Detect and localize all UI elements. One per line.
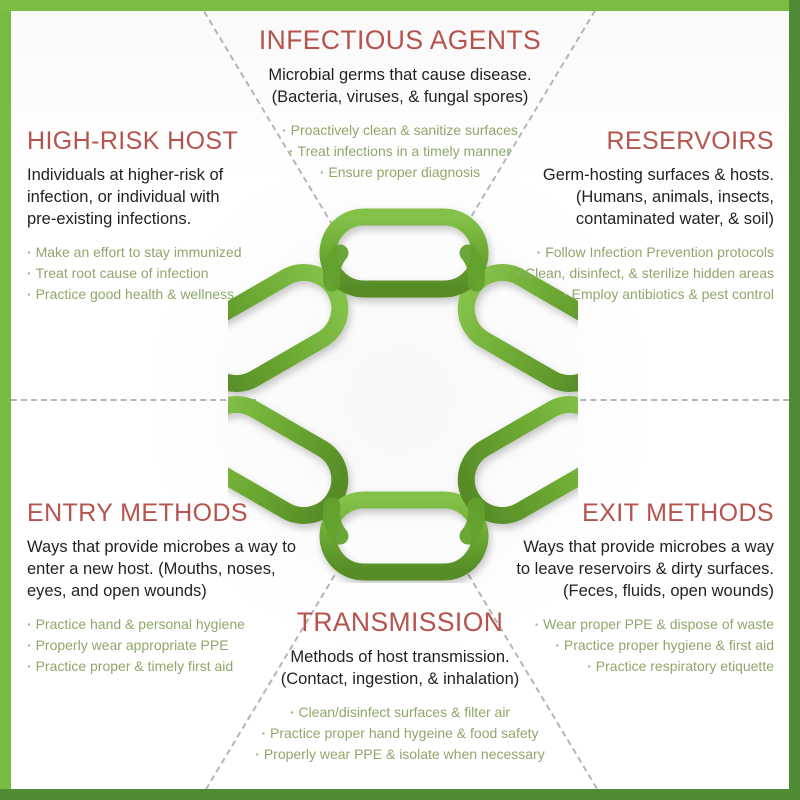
section-description-high-risk-host: Individuals at higher-risk of infection,… [27, 164, 289, 230]
list-item: Practice proper hand hygeine & food safe… [240, 723, 560, 744]
list-item: Follow Infection Prevention protocols [512, 242, 774, 263]
desc-line: (Bacteria, viruses, & fungal spores) [272, 88, 529, 106]
desc-line: (Humans, animals, insects, [576, 188, 774, 206]
section-title-reservoirs: RESERVOIRS [512, 128, 774, 155]
chain-link-bottom [328, 500, 480, 572]
desc-line: (Feces, fluids, open wounds) [563, 582, 774, 600]
section-title-infectious-agents: INFECTIOUS AGENTS [238, 26, 562, 55]
desc-line: to leave reservoirs & dirty surfaces. [516, 560, 774, 578]
desc-line: (Contact, ingestion, & inhalation) [281, 670, 519, 688]
section-title-transmission: TRANSMISSION [240, 608, 560, 637]
desc-line: Individuals at higher-risk of [27, 166, 223, 184]
desc-line: contaminated water, & soil) [576, 210, 774, 228]
border-bottom [0, 789, 800, 800]
list-item: Properly wear PPE & isolate when necessa… [240, 744, 560, 765]
section-description-reservoirs: Germ-hosting surfaces & hosts. (Humans, … [512, 164, 774, 230]
desc-line: Microbial germs that cause disease. [268, 66, 531, 84]
section-description-infectious-agents: Microbial germs that cause disease. (Bac… [238, 64, 562, 108]
section-title-entry-methods: ENTRY METHODS [27, 500, 305, 527]
list-item: Practice good health & wellness [27, 284, 289, 305]
section-high-risk-host: HIGH-RISK HOST Individuals at higher-ris… [27, 128, 289, 305]
bullet-list-reservoirs: Follow Infection Prevention protocols Cl… [512, 242, 774, 305]
list-item: Make an effort to stay immunized [27, 242, 289, 263]
desc-line: Germ-hosting surfaces & hosts. [543, 166, 774, 184]
desc-line: Ways that provide microbes a way [523, 538, 774, 556]
bullet-list-high-risk-host: Make an effort to stay immunized Treat r… [27, 242, 289, 305]
section-transmission: TRANSMISSION Methods of host transmissio… [240, 608, 560, 765]
list-item: Clean/disinfect surfaces & filter air [240, 702, 560, 723]
list-item: Treat root cause of infection [27, 263, 289, 284]
bullet-list-transmission: Clean/disinfect surfaces & filter air Pr… [240, 702, 560, 765]
desc-line: Ways that provide microbes a way to [27, 538, 296, 556]
border-right [789, 0, 800, 800]
section-description-transmission: Methods of host transmission. (Contact, … [240, 646, 560, 690]
border-left [0, 0, 11, 800]
border-top [0, 0, 800, 11]
chain-link-top [328, 217, 480, 289]
section-title-high-risk-host: HIGH-RISK HOST [27, 128, 289, 155]
desc-line: pre-existing infections. [27, 210, 191, 228]
infographic-poster: INFECTIOUS AGENTS Microbial germs that c… [0, 0, 800, 800]
desc-line: enter a new host. (Mouths, noses, [27, 560, 276, 578]
section-description-exit-methods: Ways that provide microbes a way to leav… [500, 536, 774, 602]
section-title-exit-methods: EXIT METHODS [500, 500, 774, 527]
section-reservoirs: RESERVOIRS Germ-hosting surfaces & hosts… [512, 128, 774, 305]
list-item: Clean, disinfect, & sterilize hidden are… [512, 263, 774, 284]
desc-line: infection, or individual with [27, 188, 220, 206]
section-description-entry-methods: Ways that provide microbes a way to ente… [27, 536, 305, 602]
desc-line: eyes, and open wounds) [27, 582, 207, 600]
list-item: Employ antibiotics & pest control [512, 284, 774, 305]
desc-line: Methods of host transmission. [290, 648, 509, 666]
